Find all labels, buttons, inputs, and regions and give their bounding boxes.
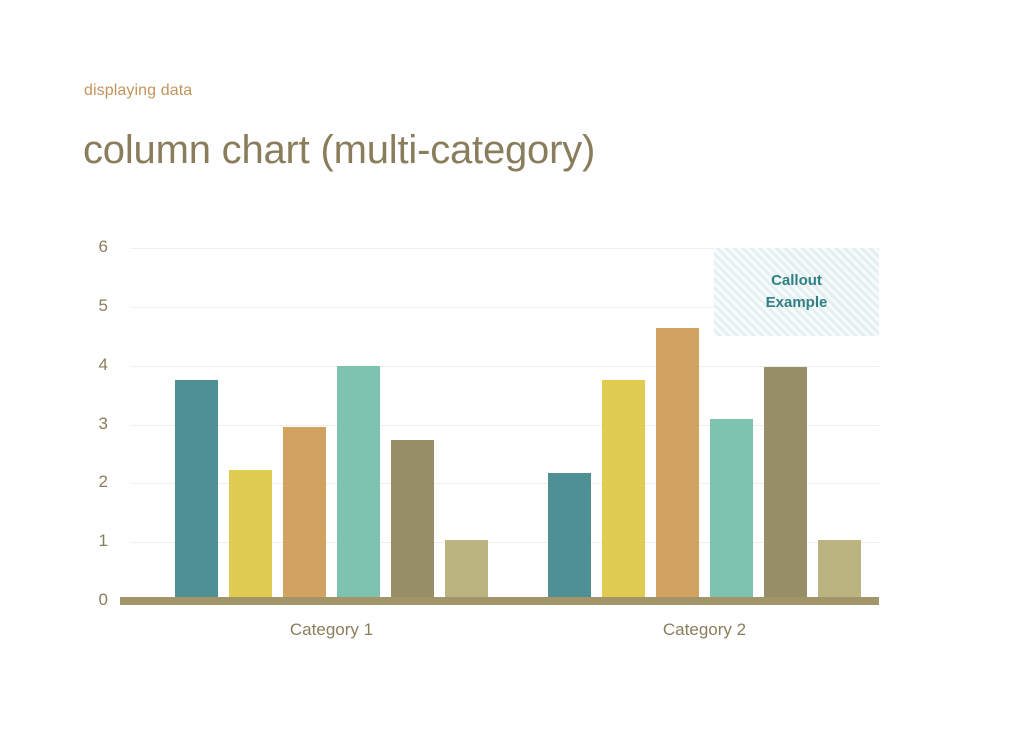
bar <box>602 380 645 601</box>
y-axis-tick-label: 5 <box>68 296 108 316</box>
bar <box>710 419 753 601</box>
bar <box>656 328 699 601</box>
bar <box>391 440 434 601</box>
bar <box>548 473 591 601</box>
bar <box>283 427 326 601</box>
x-axis-category-label: Category 1 <box>175 620 488 640</box>
y-axis-tick-label: 1 <box>68 531 108 551</box>
y-axis-tick-label: 4 <box>68 355 108 375</box>
x-axis-line <box>120 597 879 605</box>
bar <box>229 470 272 601</box>
bar <box>818 540 861 601</box>
y-axis-tick-label: 2 <box>68 472 108 492</box>
bar <box>764 367 807 601</box>
bar <box>175 380 218 601</box>
bar <box>337 366 380 601</box>
bar <box>445 540 488 601</box>
x-axis-category-label: Category 2 <box>548 620 861 640</box>
column-chart: 0123456 Category 1Category 2 CalloutExam… <box>0 0 1024 748</box>
y-axis-tick-label: 6 <box>68 237 108 257</box>
y-axis-tick-label: 3 <box>68 414 108 434</box>
y-axis-tick-label: 0 <box>68 590 108 610</box>
slide: displaying data column chart (multi-cate… <box>0 0 1024 748</box>
callout-text: CalloutExample <box>766 270 828 314</box>
callout-box: CalloutExample <box>714 248 879 336</box>
